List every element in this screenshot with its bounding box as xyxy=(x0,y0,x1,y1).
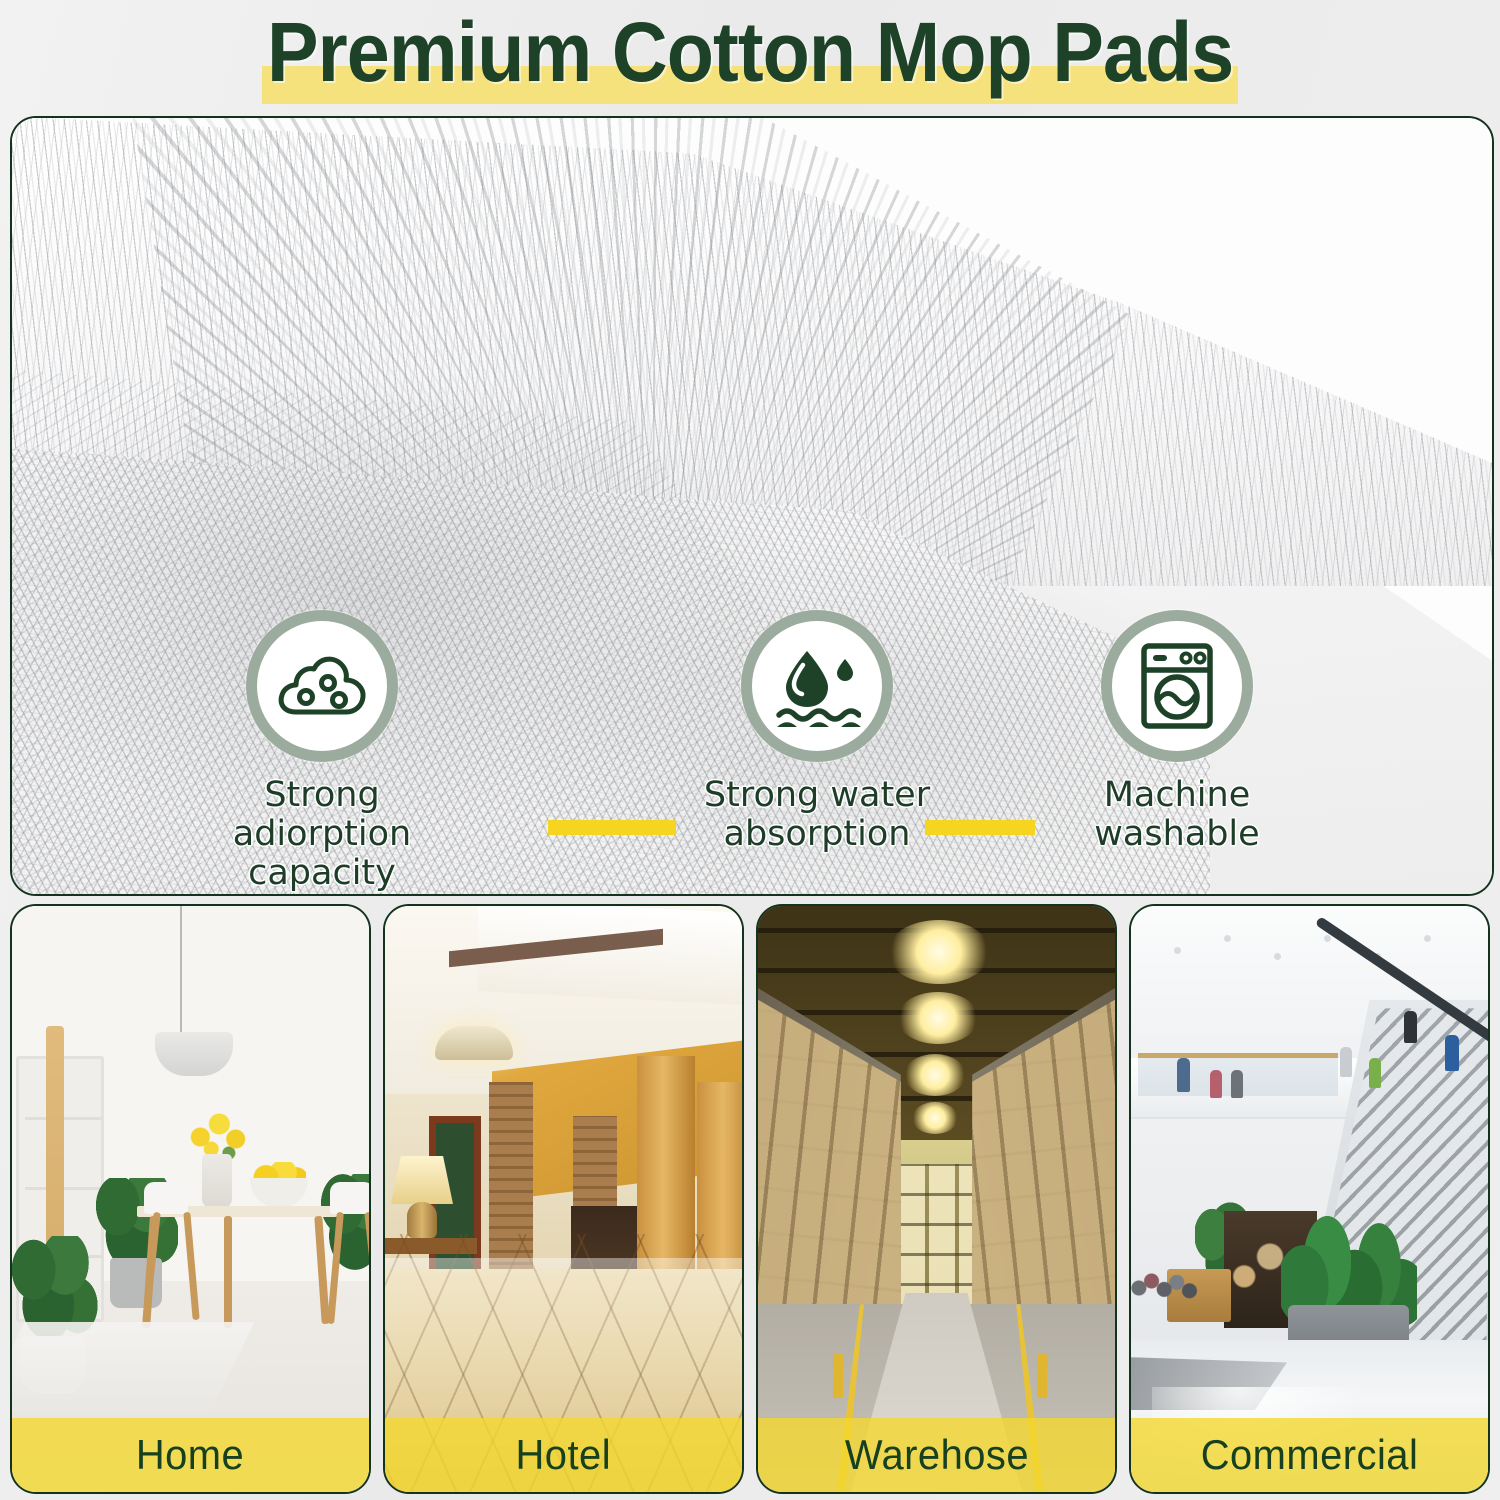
infographic-page: Premium Cotton Mop Pads xyxy=(0,0,1500,1500)
feature-water-absorption: Strong water absorption xyxy=(667,610,967,854)
feature-label-2-line2: absorption xyxy=(667,815,967,854)
warehouse-light-4 xyxy=(912,1102,958,1134)
caption-hotel-label: Hotel xyxy=(516,1431,612,1479)
hotel-scene xyxy=(385,906,742,1492)
feature-badges: Strong adiorption capacity xyxy=(12,610,1492,890)
feature-label-3-line2: washable xyxy=(1027,815,1327,854)
washing-machine-icon xyxy=(1138,641,1216,731)
caption-warehouse: Warehose xyxy=(758,1418,1115,1492)
feature-icon-ring-2 xyxy=(741,610,893,762)
home-pendant-lamp xyxy=(155,1032,233,1076)
use-case-card-warehouse: Warehose xyxy=(756,904,1117,1494)
use-case-cards: Home xyxy=(10,904,1490,1490)
use-case-card-commercial: Commercial xyxy=(1129,904,1490,1494)
mall-person-esc-1 xyxy=(1445,1035,1459,1071)
use-case-card-home: Home xyxy=(10,904,371,1494)
warehouse-light-3 xyxy=(904,1054,966,1096)
feature-label-2-line1: Strong water xyxy=(667,776,967,815)
hotel-table-lamp-shade xyxy=(391,1156,453,1204)
hero-product-panel: Strong adiorption capacity xyxy=(10,116,1494,896)
warehouse-scene xyxy=(758,906,1115,1492)
caption-home-label: Home xyxy=(136,1431,244,1479)
feature-label-3: Machine washable xyxy=(1027,776,1327,854)
home-chair-right xyxy=(330,1182,371,1214)
hotel-table-lamp-base xyxy=(407,1202,437,1238)
mall-person-esc-3 xyxy=(1369,1058,1381,1088)
caption-commercial-label: Commercial xyxy=(1201,1431,1419,1479)
mall-balcony-rail xyxy=(1138,1053,1338,1058)
hotel-dome-light xyxy=(435,1026,513,1060)
feature-label-1: Strong adiorption capacity xyxy=(172,776,472,893)
feature-icon-ring-3 xyxy=(1101,610,1253,762)
mall-person-balcony-2 xyxy=(1210,1070,1222,1098)
home-chair-left xyxy=(144,1182,188,1214)
warehouse-light-1 xyxy=(887,920,991,984)
feature-label-1-line2: capacity xyxy=(172,854,472,893)
feature-label-1-line1: Strong adiorption xyxy=(172,776,472,854)
caption-hotel: Hotel xyxy=(385,1418,742,1492)
use-case-card-hotel: Hotel xyxy=(383,904,744,1494)
feature-machine-washable: Machine washable xyxy=(1027,610,1327,854)
page-header: Premium Cotton Mop Pads xyxy=(0,0,1500,110)
warehouse-post-right xyxy=(1037,1354,1047,1398)
caption-commercial: Commercial xyxy=(1131,1418,1488,1492)
home-scene xyxy=(12,906,369,1492)
commercial-scene xyxy=(1131,906,1488,1492)
warehouse-post-left xyxy=(833,1354,843,1398)
mall-crowd xyxy=(1131,1246,1210,1316)
feature-adsorption: Strong adiorption capacity xyxy=(172,610,472,893)
mall-person-esc-4 xyxy=(1340,1047,1352,1077)
caption-warehouse-label: Warehose xyxy=(844,1431,1028,1479)
mall-person-balcony-1 xyxy=(1177,1058,1190,1092)
feature-label-3-line1: Machine xyxy=(1027,776,1327,815)
water-drop-waves-icon xyxy=(773,645,861,727)
home-vase xyxy=(202,1154,232,1208)
caption-home: Home xyxy=(12,1418,369,1492)
mall-person-balcony-3 xyxy=(1231,1070,1243,1098)
sponge-cloud-icon xyxy=(276,650,368,722)
mall-person-esc-2 xyxy=(1404,1011,1417,1043)
home-pendant-cord xyxy=(180,906,182,1036)
page-title: Premium Cotton Mop Pads xyxy=(267,10,1233,94)
feature-label-2: Strong water absorption xyxy=(667,776,967,854)
warehouse-light-2 xyxy=(897,992,979,1044)
page-title-wrap: Premium Cotton Mop Pads xyxy=(0,0,1500,110)
feature-icon-ring-1 xyxy=(246,610,398,762)
